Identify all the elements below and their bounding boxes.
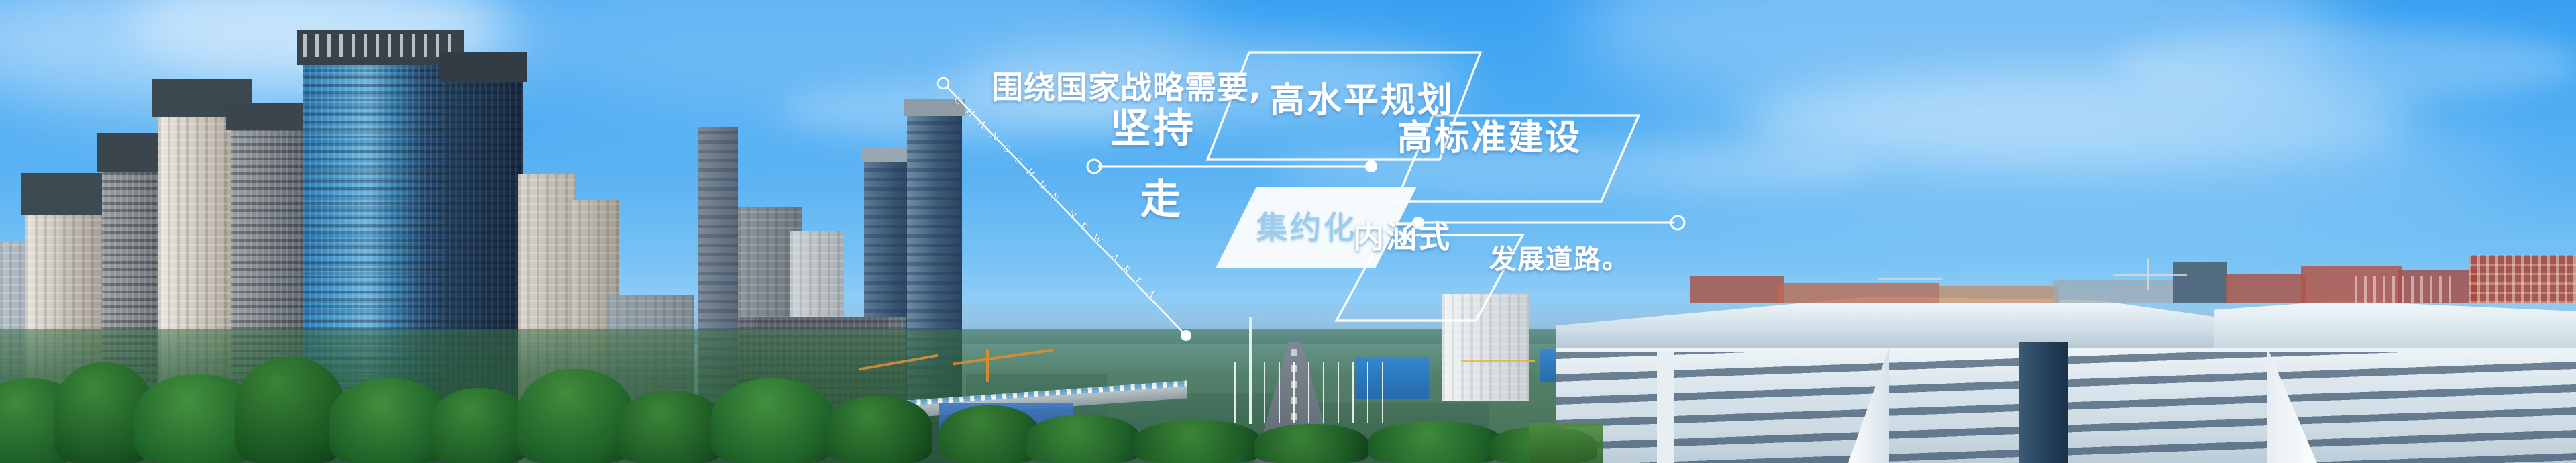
diagonal-watermark-label: C H A N G C H U N N E W A R E A <box>951 91 952 92</box>
slogan-mode-neihan: 内涵式 <box>1353 213 1452 257</box>
slogan-pillar-construction: 高标准建设 <box>1397 109 1582 160</box>
city-banner: C H A N G C H U N N E W A R E A 围绕国家战略需要… <box>0 0 2576 463</box>
slogan-verb-zou: 走 <box>1140 167 1183 225</box>
slogan-tail-text: 发展道路。 <box>1489 238 1630 276</box>
slogan-badge-jiyuehua: 集约化 <box>1256 203 1357 248</box>
slogan-overlay: C H A N G C H U N N E W A R E A 围绕国家战略需要… <box>0 0 2576 463</box>
slogan-verb-jianchi: 坚持 <box>1110 96 1196 154</box>
connector-right <box>1412 216 1684 229</box>
connector-left <box>1087 160 1377 173</box>
